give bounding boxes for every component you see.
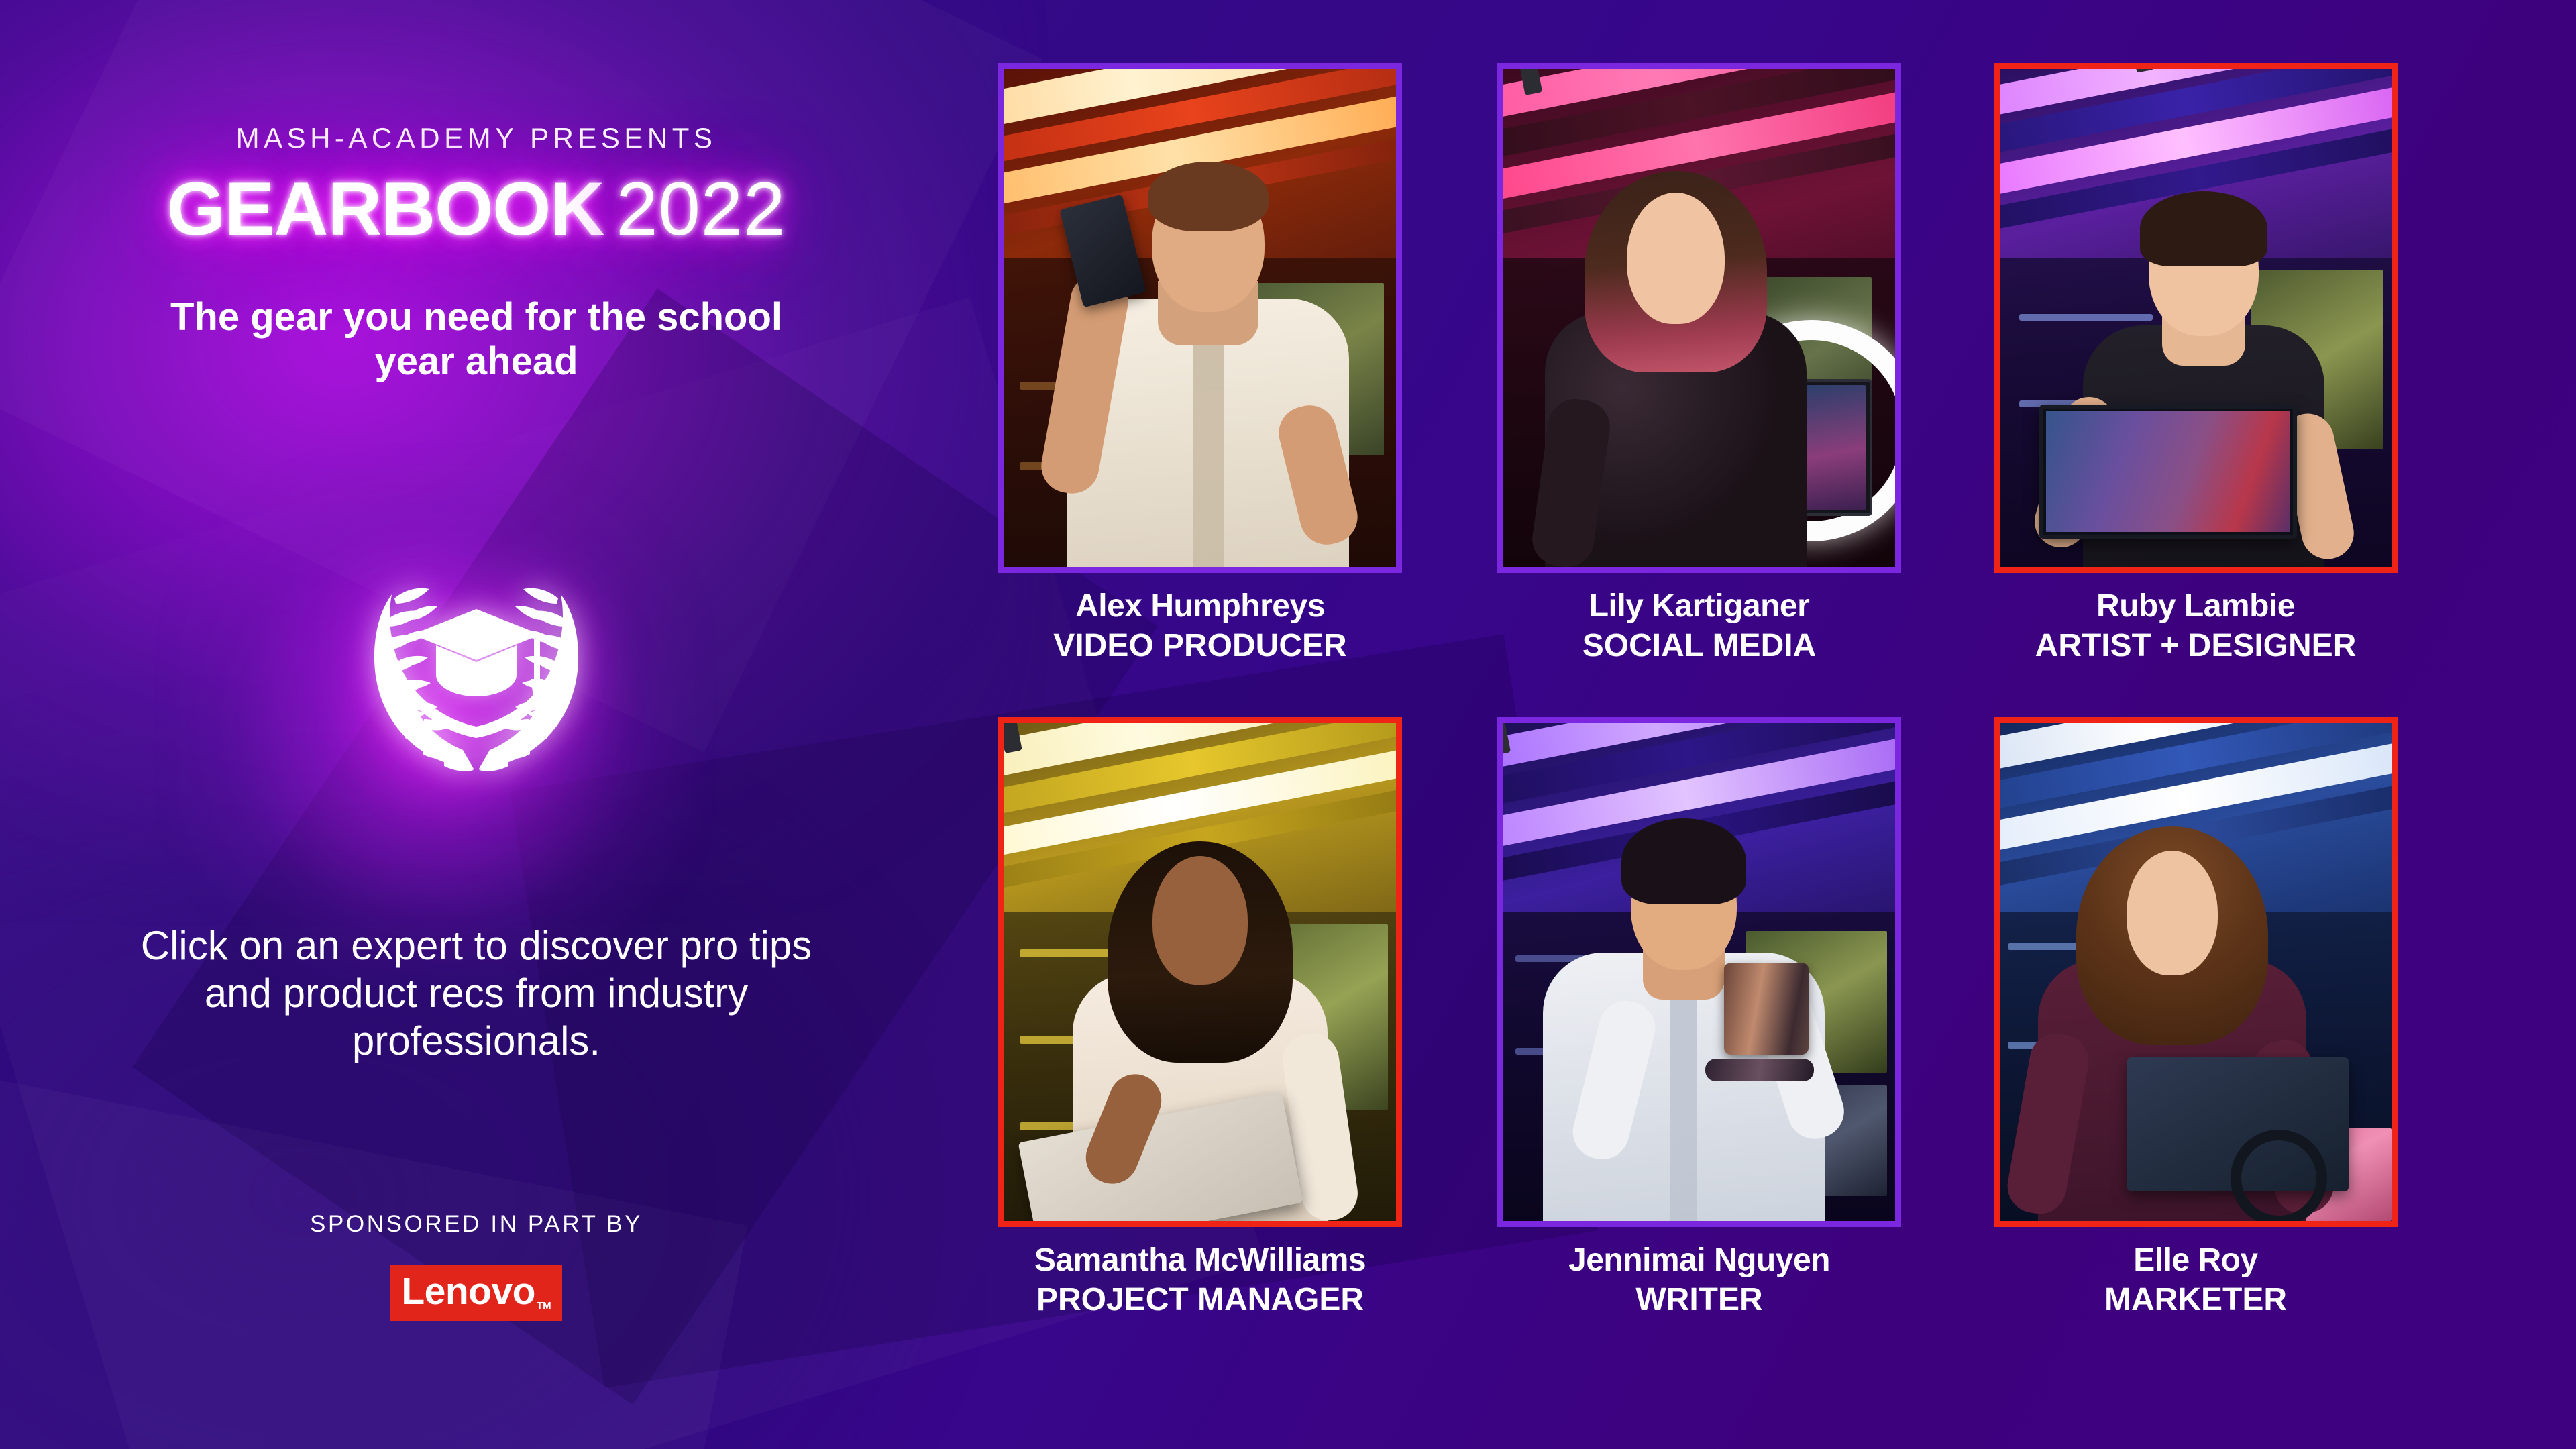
intro-panel: MASH-ACADEMY PRESENTS GEARBOOK2022 The g… bbox=[0, 0, 953, 1449]
expert-name: Lily Kartiganer bbox=[1497, 589, 1901, 624]
headphones-product bbox=[2231, 1130, 2327, 1221]
page-title: GEARBOOK2022 bbox=[0, 172, 953, 247]
expert-card-lily-kartiganer[interactable]: Lily Kartiganer SOCIAL MEDIA bbox=[1497, 63, 1901, 664]
expert-photo[interactable] bbox=[1497, 717, 1901, 1227]
call-to-action-text: Click on an expert to discover pro tips … bbox=[107, 922, 845, 1065]
expert-name: Alex Humphreys bbox=[998, 589, 1402, 624]
lenovo-logo: Lenovo TM bbox=[390, 1265, 562, 1321]
expert-caption: Samantha McWilliams PROJECT MANAGER bbox=[998, 1243, 1402, 1318]
expert-card-elle-roy[interactable]: Elle Roy MARKETER bbox=[1994, 717, 2398, 1318]
expert-caption: Lily Kartiganer SOCIAL MEDIA bbox=[1497, 589, 1901, 664]
photo-scene bbox=[1503, 69, 1895, 567]
expert-role: VIDEO PRODUCER bbox=[998, 628, 1402, 664]
expert-name: Elle Roy bbox=[1994, 1243, 2398, 1278]
expert-caption: Jennimai Nguyen WRITER bbox=[1497, 1243, 1901, 1318]
subject-hair bbox=[1621, 818, 1746, 904]
expert-role: SOCIAL MEDIA bbox=[1497, 628, 1901, 664]
photo-scene bbox=[2000, 723, 2392, 1221]
expert-photo[interactable] bbox=[1497, 63, 1901, 573]
presenter-label: MASH-ACADEMY PRESENTS bbox=[0, 122, 953, 154]
expert-card-alex-humphreys[interactable]: Alex Humphreys VIDEO PRODUCER bbox=[998, 63, 1402, 664]
expert-portrait bbox=[2059, 164, 2348, 567]
expert-portrait bbox=[1049, 805, 1351, 1221]
subject-hair bbox=[2140, 191, 2267, 266]
expert-card-ruby-lambie[interactable]: Ruby Lambie ARTIST + DESIGNER bbox=[1994, 63, 2398, 664]
sponsor-label: SPONSORED IN PART BY bbox=[0, 1211, 953, 1238]
photo-scene bbox=[1004, 69, 1396, 567]
expert-portrait bbox=[2015, 798, 2330, 1221]
expert-photo[interactable] bbox=[1994, 717, 2398, 1227]
expert-caption: Ruby Lambie ARTIST + DESIGNER bbox=[1994, 589, 2398, 664]
expert-caption: Elle Roy MARKETER bbox=[1994, 1243, 2398, 1318]
tablet-product bbox=[2039, 405, 2297, 539]
laurel-wreath-graduation-cap-icon bbox=[342, 537, 610, 792]
expert-portrait bbox=[1051, 164, 1366, 567]
photo-scene bbox=[2000, 69, 2392, 567]
expert-photo[interactable] bbox=[998, 63, 1402, 573]
expert-name: Jennimai Nguyen bbox=[1497, 1243, 1901, 1278]
expert-photo[interactable] bbox=[998, 717, 1402, 1227]
subject-hair bbox=[1148, 162, 1269, 231]
page-subtitle: The gear you need for the school year ah… bbox=[141, 295, 812, 383]
expert-photo[interactable] bbox=[1994, 63, 2398, 573]
expert-caption: Alex Humphreys VIDEO PRODUCER bbox=[998, 589, 1402, 664]
expert-role: MARKETER bbox=[1994, 1282, 2398, 1318]
expert-role: ARTIST + DESIGNER bbox=[1994, 628, 2398, 664]
expert-role: PROJECT MANAGER bbox=[998, 1282, 1402, 1318]
mug-warmer-base bbox=[1705, 1059, 1814, 1081]
lenovo-wordmark: Lenovo bbox=[401, 1273, 535, 1311]
expert-card-jennimai-nguyen[interactable]: Jennimai Nguyen WRITER bbox=[1497, 717, 1901, 1318]
photo-scene bbox=[1004, 723, 1396, 1221]
expert-portrait bbox=[1529, 812, 1838, 1221]
trademark-mark: TM bbox=[537, 1300, 551, 1311]
expert-name: Samantha McWilliams bbox=[998, 1243, 1402, 1278]
expert-role: WRITER bbox=[1497, 1282, 1901, 1318]
expert-grid: Alex Humphreys VIDEO PRODUCER bbox=[998, 63, 2400, 1358]
expert-portrait bbox=[1528, 151, 1823, 567]
mug-warmer-product bbox=[1724, 963, 1809, 1055]
title-year: 2022 bbox=[616, 167, 786, 251]
expert-name: Ruby Lambie bbox=[1994, 589, 2398, 624]
expert-card-samantha-mcwilliams[interactable]: Samantha McWilliams PROJECT MANAGER bbox=[998, 717, 1402, 1318]
title-main-word: GEARBOOK bbox=[167, 167, 604, 251]
photo-scene bbox=[1503, 723, 1895, 1221]
